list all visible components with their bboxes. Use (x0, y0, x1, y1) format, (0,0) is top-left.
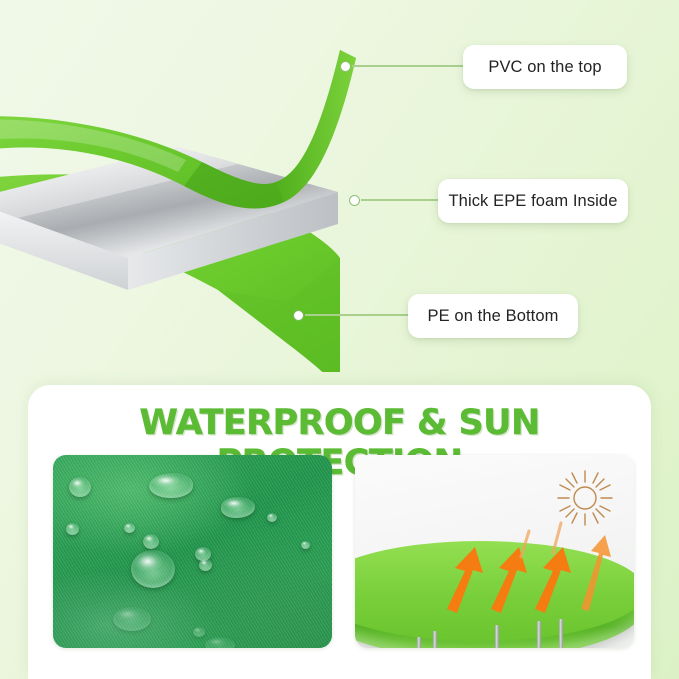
connector-dot-pvc (340, 61, 351, 72)
sun-protection-photo (355, 455, 634, 648)
sun-reflection-arrows (413, 513, 628, 628)
callout-pe-on-the-bottom[interactable]: PE on the Bottom (408, 294, 578, 338)
callout-thick-epe-foam-inside[interactable]: Thick EPE foam Inside (438, 179, 628, 223)
connector-line-pe (305, 314, 409, 316)
water-droplet (66, 523, 79, 535)
trampoline-leg (433, 631, 437, 648)
water-droplet (131, 550, 175, 588)
water-droplet (143, 534, 159, 549)
layer-diagram-area: PVC on the top Thick EPE foam Inside PE … (0, 0, 679, 386)
reflection-arrow (535, 547, 571, 613)
callout-pvc-on-the-top[interactable]: PVC on the top (463, 45, 627, 89)
water-droplet (199, 559, 212, 571)
water-droplet (267, 513, 277, 522)
feature-card: WATERPROOF & SUN PROTECTION (28, 385, 651, 679)
connector-line-pvc (352, 65, 464, 67)
water-droplet (193, 627, 205, 637)
exploded-layer-illustration (0, 12, 388, 372)
reflection-arrow (447, 547, 483, 613)
water-droplet (301, 541, 310, 549)
connector-dot-pe (293, 310, 304, 321)
connector-line-epe (361, 199, 439, 201)
water-droplet (124, 523, 135, 533)
reflection-arrow (581, 535, 611, 611)
callout-epe-label: Thick EPE foam Inside (448, 192, 617, 211)
callout-pvc-label: PVC on the top (488, 58, 601, 77)
connector-dot-epe (349, 195, 360, 206)
infographic-page: PVC on the top Thick EPE foam Inside PE … (0, 0, 679, 679)
callout-pe-label: PE on the Bottom (428, 307, 559, 326)
waterproof-fabric-photo (53, 455, 332, 648)
sun-ray-streak (521, 531, 529, 557)
trampoline-leg (495, 625, 499, 648)
sun-ray-streak (553, 523, 561, 553)
water-droplet (149, 473, 193, 498)
water-droplet (205, 637, 235, 648)
water-droplet (113, 607, 151, 631)
trampoline-leg (417, 637, 421, 648)
water-droplet (69, 477, 91, 497)
